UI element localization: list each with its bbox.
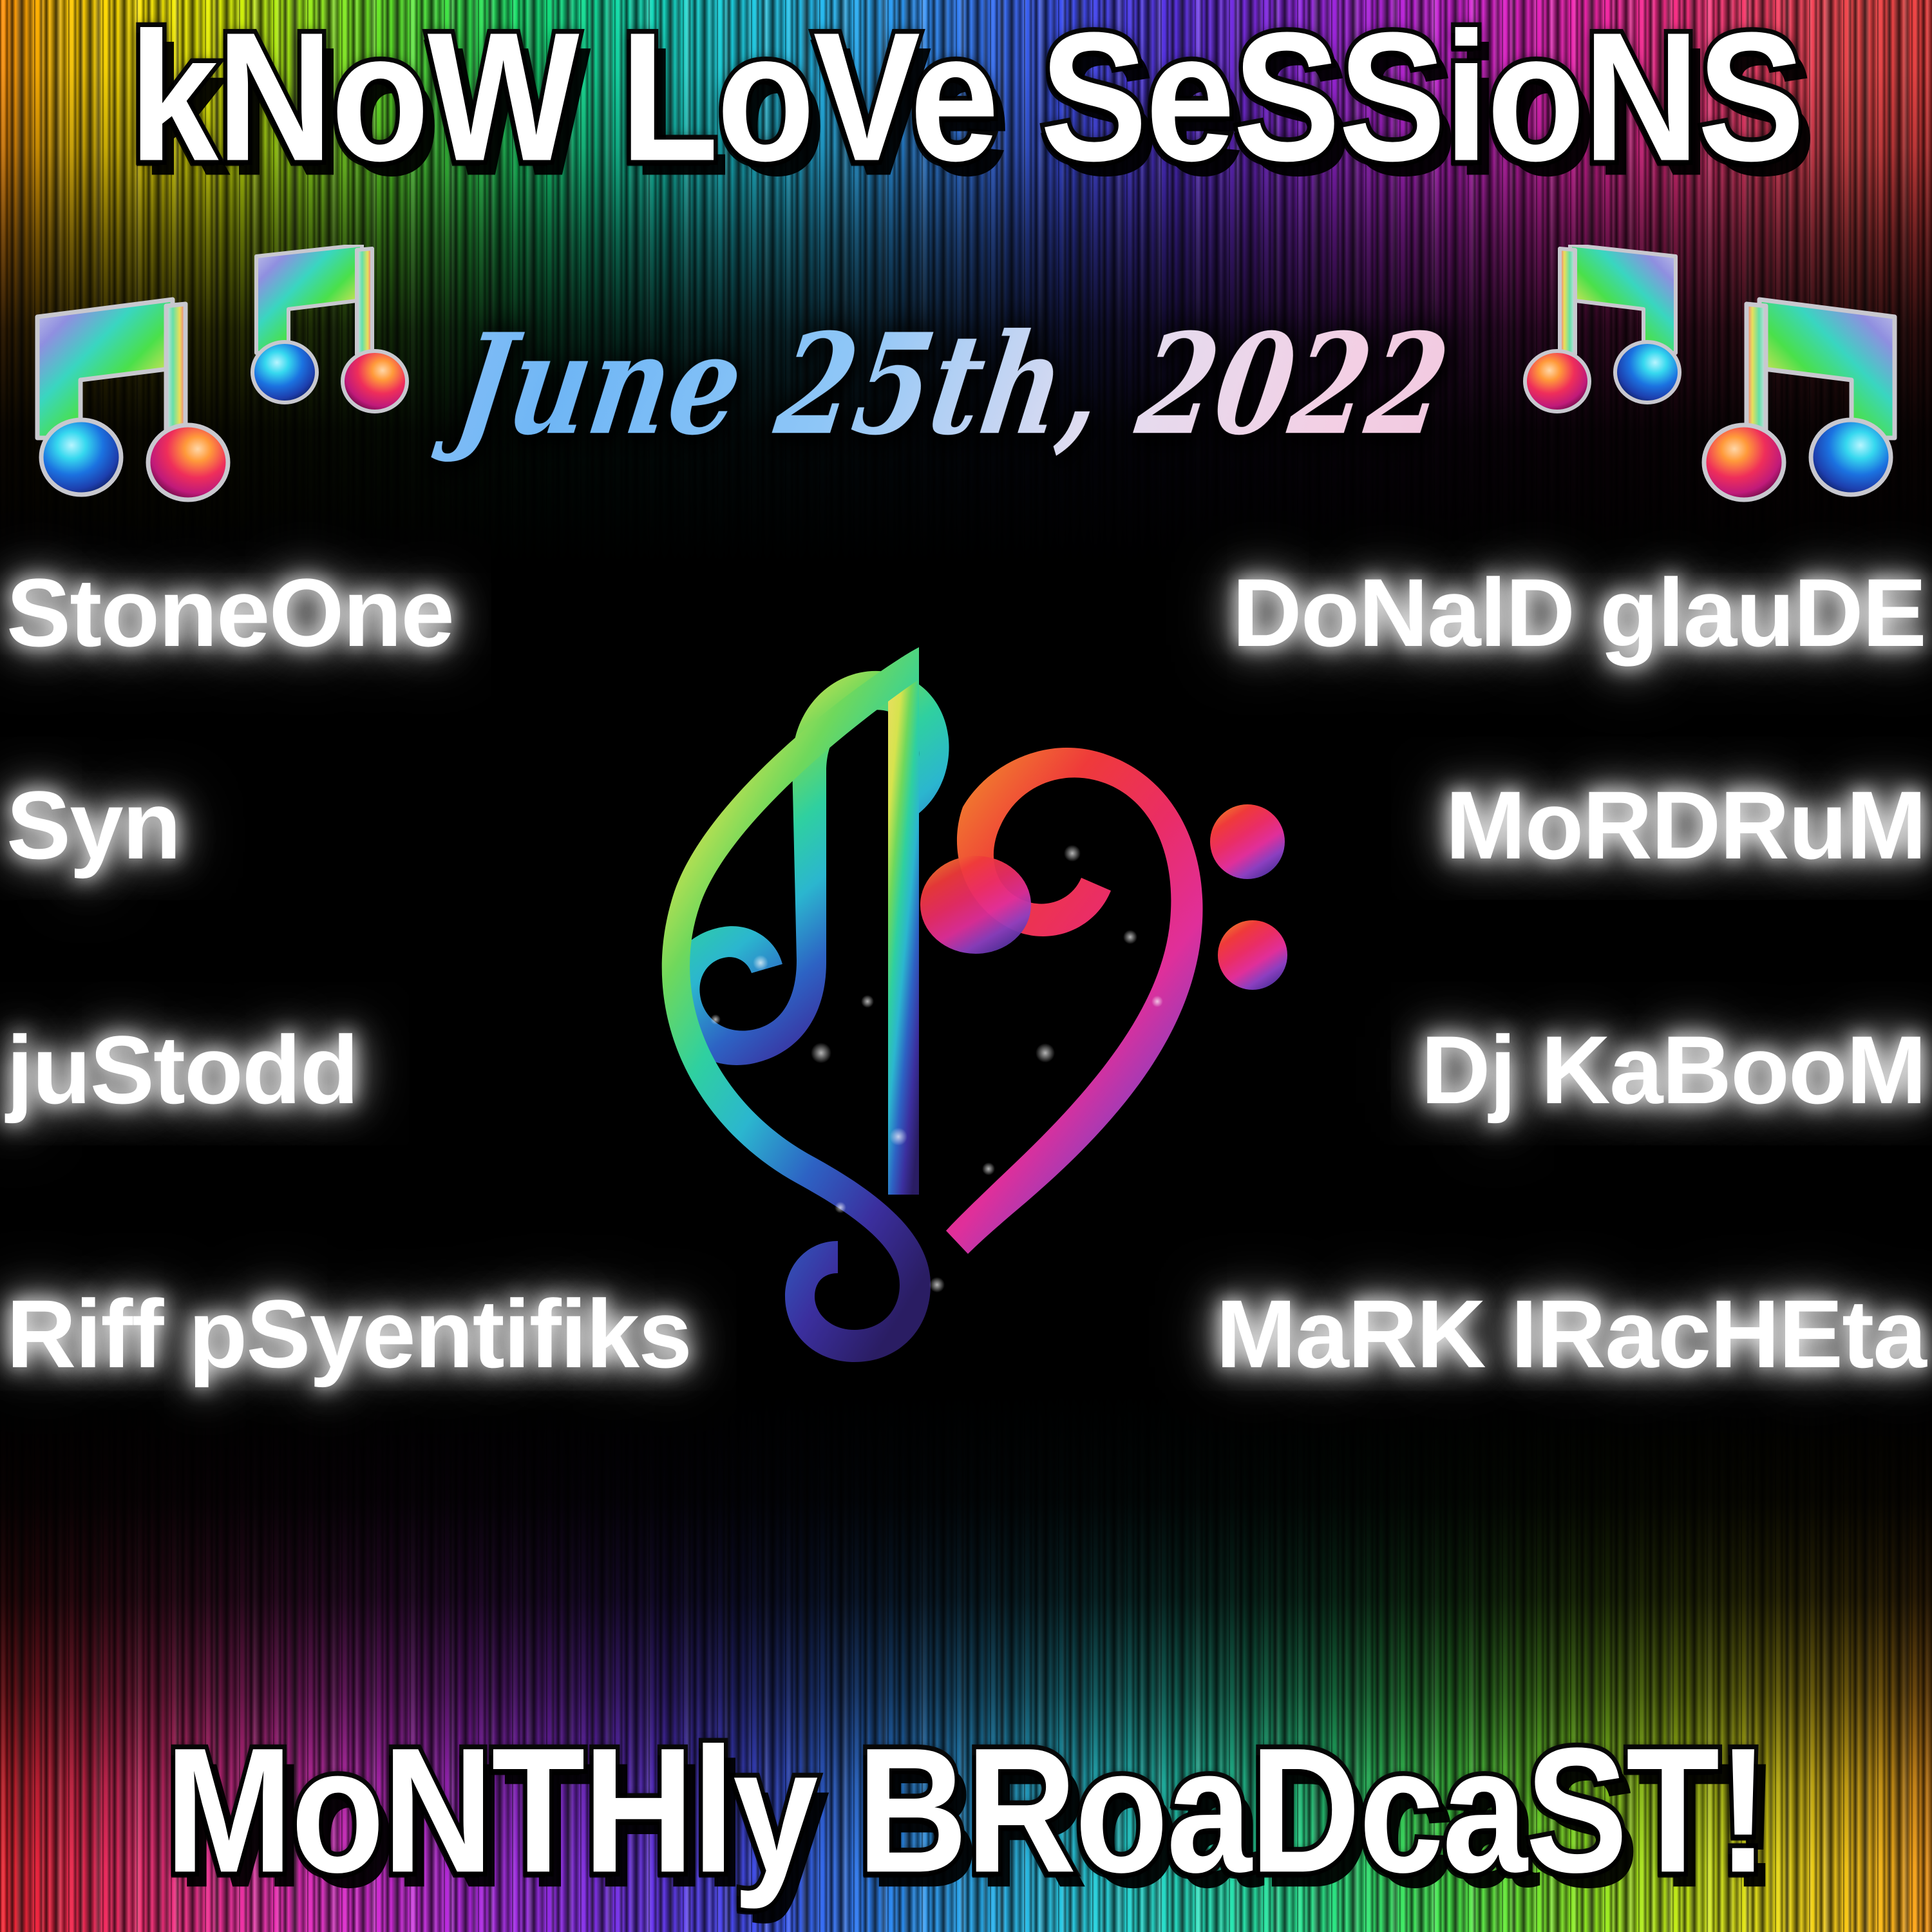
lineup-artist-mark-iracheta: MaRK IRacHEta: [1216, 1278, 1926, 1390]
lineup-artist-dj-kaboom: Dj KaBooM: [1421, 1014, 1926, 1126]
lineup-artist-justodd: juStodd: [6, 1014, 358, 1126]
lineup-artist-stoneone: StoneOne: [6, 557, 453, 668]
broadcast-banner: MoNTHly BRoaDcaST!: [0, 1709, 1932, 1913]
lineup-artist-syn: Syn: [6, 770, 180, 881]
page-title: kNoW LoVe SeSSioNS: [0, 5, 1932, 189]
lineup-artist-riff-psyentifiks: Riff pSyentifiks: [6, 1278, 691, 1390]
flyer-poster: kNoW LoVe SeSSioNS June 25th, 2022 Stone…: [0, 0, 1932, 1932]
event-date: June 25th, 2022: [0, 303, 1932, 466]
lineup-artist-mordrum: MoRDRuM: [1445, 770, 1926, 881]
clef-heart-artwork: [628, 602, 1304, 1394]
lineup-artist-donald-glaude: DoNalD glauDE: [1232, 557, 1926, 668]
